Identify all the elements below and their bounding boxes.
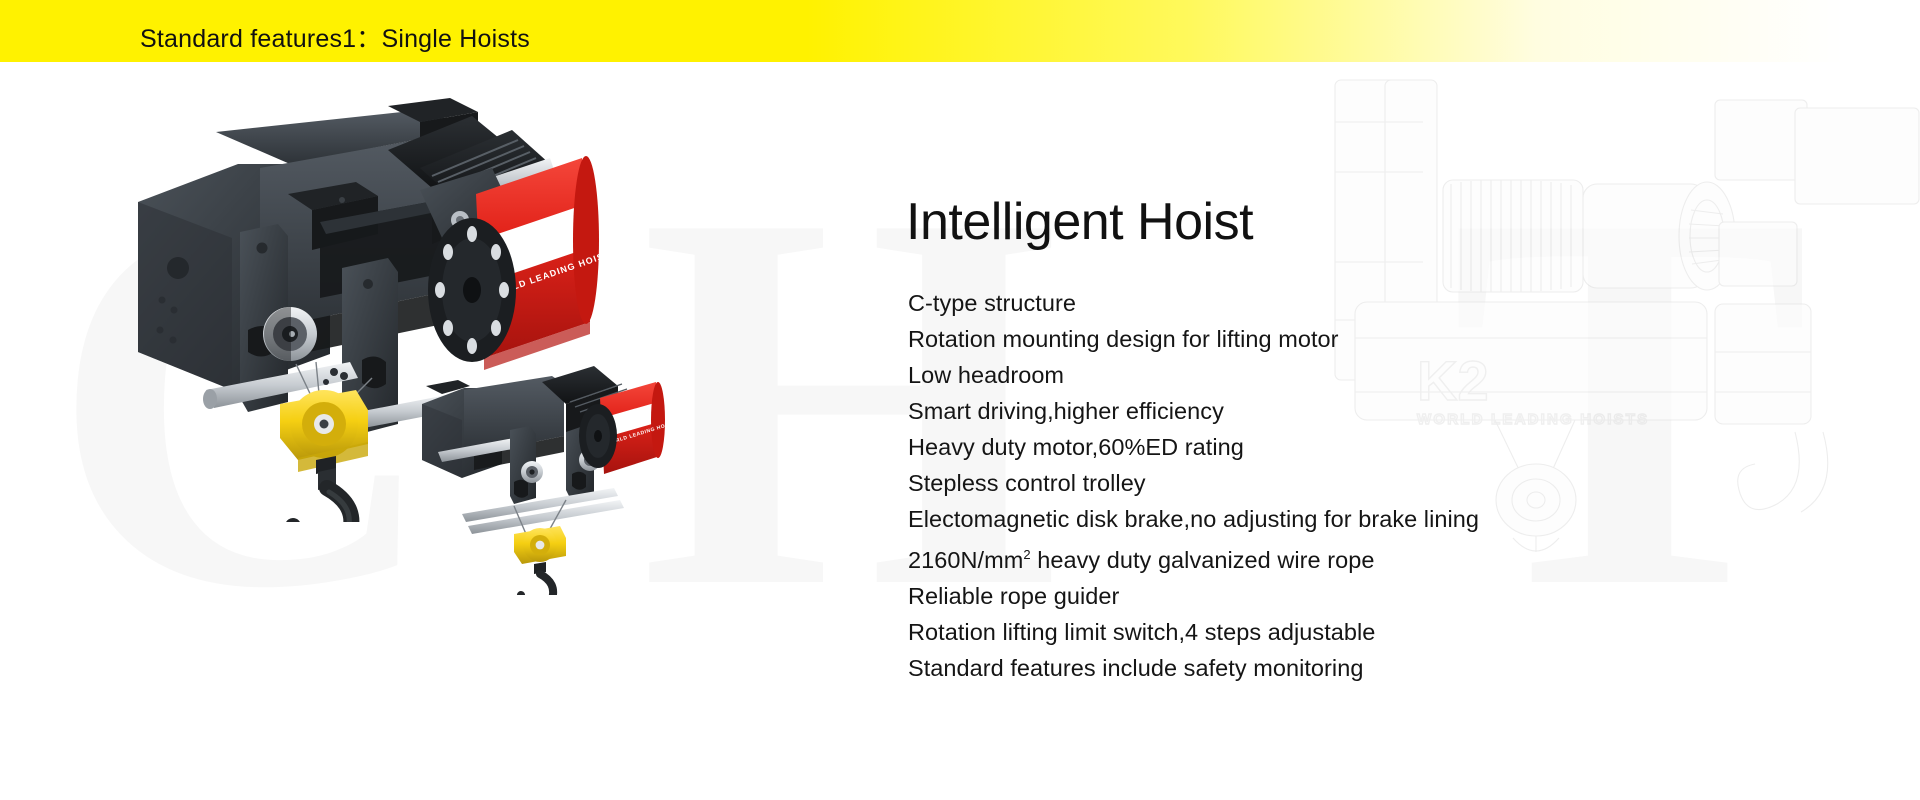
wire-rope-value: 2160N/mm [908,547,1023,573]
feature-item: Electomagnetic disk brake,no adjusting f… [908,501,1668,537]
feature-item: Low headroom [908,357,1668,393]
feature-list: C-type structure Rotation mounting desig… [908,285,1668,686]
feature-item: Smart driving,higher efficiency [908,393,1668,429]
feature-item: Standard features include safety monitor… [908,650,1668,686]
feature-item: Reliable rope guider [908,578,1668,614]
feature-item: C-type structure [908,285,1668,321]
product-title: Intelligent Hoist [906,192,1253,252]
wire-rope-superscript: 2 [1023,547,1030,562]
feature-item: Rotation lifting limit switch,4 steps ad… [908,614,1668,650]
feature-item: Rotation mounting design for lifting mot… [908,321,1668,357]
page-title: Standard features1：Single Hoists [140,19,530,55]
secondary-hoist-product-image: K3 WORLD LEADING HOISTS [418,360,718,595]
feature-item: Stepless control trolley [908,465,1668,501]
header-bar: Standard features1：Single Hoists [0,0,1920,62]
feature-item: Heavy duty motor,60%ED rating [908,429,1668,465]
wire-rope-rest: heavy duty galvanized wire rope [1031,547,1375,573]
feature-item-wire-rope: 2160N/mm2 heavy duty galvanized wire rop… [908,537,1668,578]
